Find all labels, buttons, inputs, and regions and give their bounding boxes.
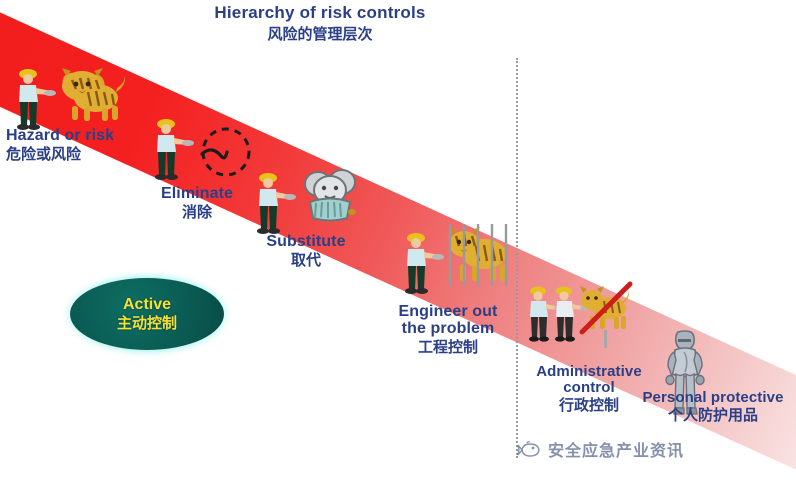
substitute-label-en: Substitute xyxy=(236,234,376,251)
caged-tiger-icon xyxy=(442,224,516,290)
stage-label-hazard: Hazard or risk 危险或风险 xyxy=(6,128,156,163)
callout-label-zh: 主动控制 xyxy=(117,314,177,333)
diagram-canvas: Hierarchy of risk controls 风险的管理层次 xyxy=(0,0,796,484)
no-tiger-sign-icon xyxy=(576,282,638,354)
active-control-callout: Active 主动控制 xyxy=(64,273,230,355)
page-title: Hierarchy of risk controls 风险的管理层次 xyxy=(0,2,640,45)
dashed-circle-empty-icon xyxy=(198,124,254,180)
engineer-label-en-line2: the problem xyxy=(388,321,508,338)
ppe-label-zh: 个人防护用品 xyxy=(630,408,796,424)
hazard-label-zh: 危险或风险 xyxy=(6,147,156,163)
tame-animal-icon xyxy=(298,162,362,222)
title-english: Hierarchy of risk controls xyxy=(0,2,640,24)
watermark: 安全应急产业资讯 xyxy=(518,437,684,461)
title-chinese: 风险的管理层次 xyxy=(0,24,640,45)
ppe-label-en: Personal protective xyxy=(630,390,796,406)
stage-label-ppe: Personal protective 个人防护用品 xyxy=(630,390,796,424)
engineer-label-en-line1: Engineer out xyxy=(388,304,508,321)
callout-label-en: Active xyxy=(123,295,171,314)
stage-label-substitute: Substitute 取代 xyxy=(236,234,376,269)
hazard-label-en: Hazard or risk xyxy=(6,128,156,145)
substitute-label-zh: 取代 xyxy=(236,253,376,269)
stage-label-engineer: Engineer out the problem 工程控制 xyxy=(388,304,508,355)
watermark-text: 安全应急产业资讯 xyxy=(548,437,684,461)
tiger-icon xyxy=(46,62,130,124)
admin-label-en-line1: Administrative xyxy=(518,364,660,380)
eliminate-label-en: Eliminate xyxy=(132,186,262,203)
whale-logo-icon xyxy=(518,441,542,458)
callout-body: Active 主动控制 xyxy=(70,278,224,350)
eliminate-label-zh: 消除 xyxy=(132,205,262,221)
stage-label-eliminate: Eliminate 消除 xyxy=(132,186,262,221)
worker-figure-engineer xyxy=(398,228,442,294)
engineer-label-zh: 工程控制 xyxy=(388,340,508,356)
